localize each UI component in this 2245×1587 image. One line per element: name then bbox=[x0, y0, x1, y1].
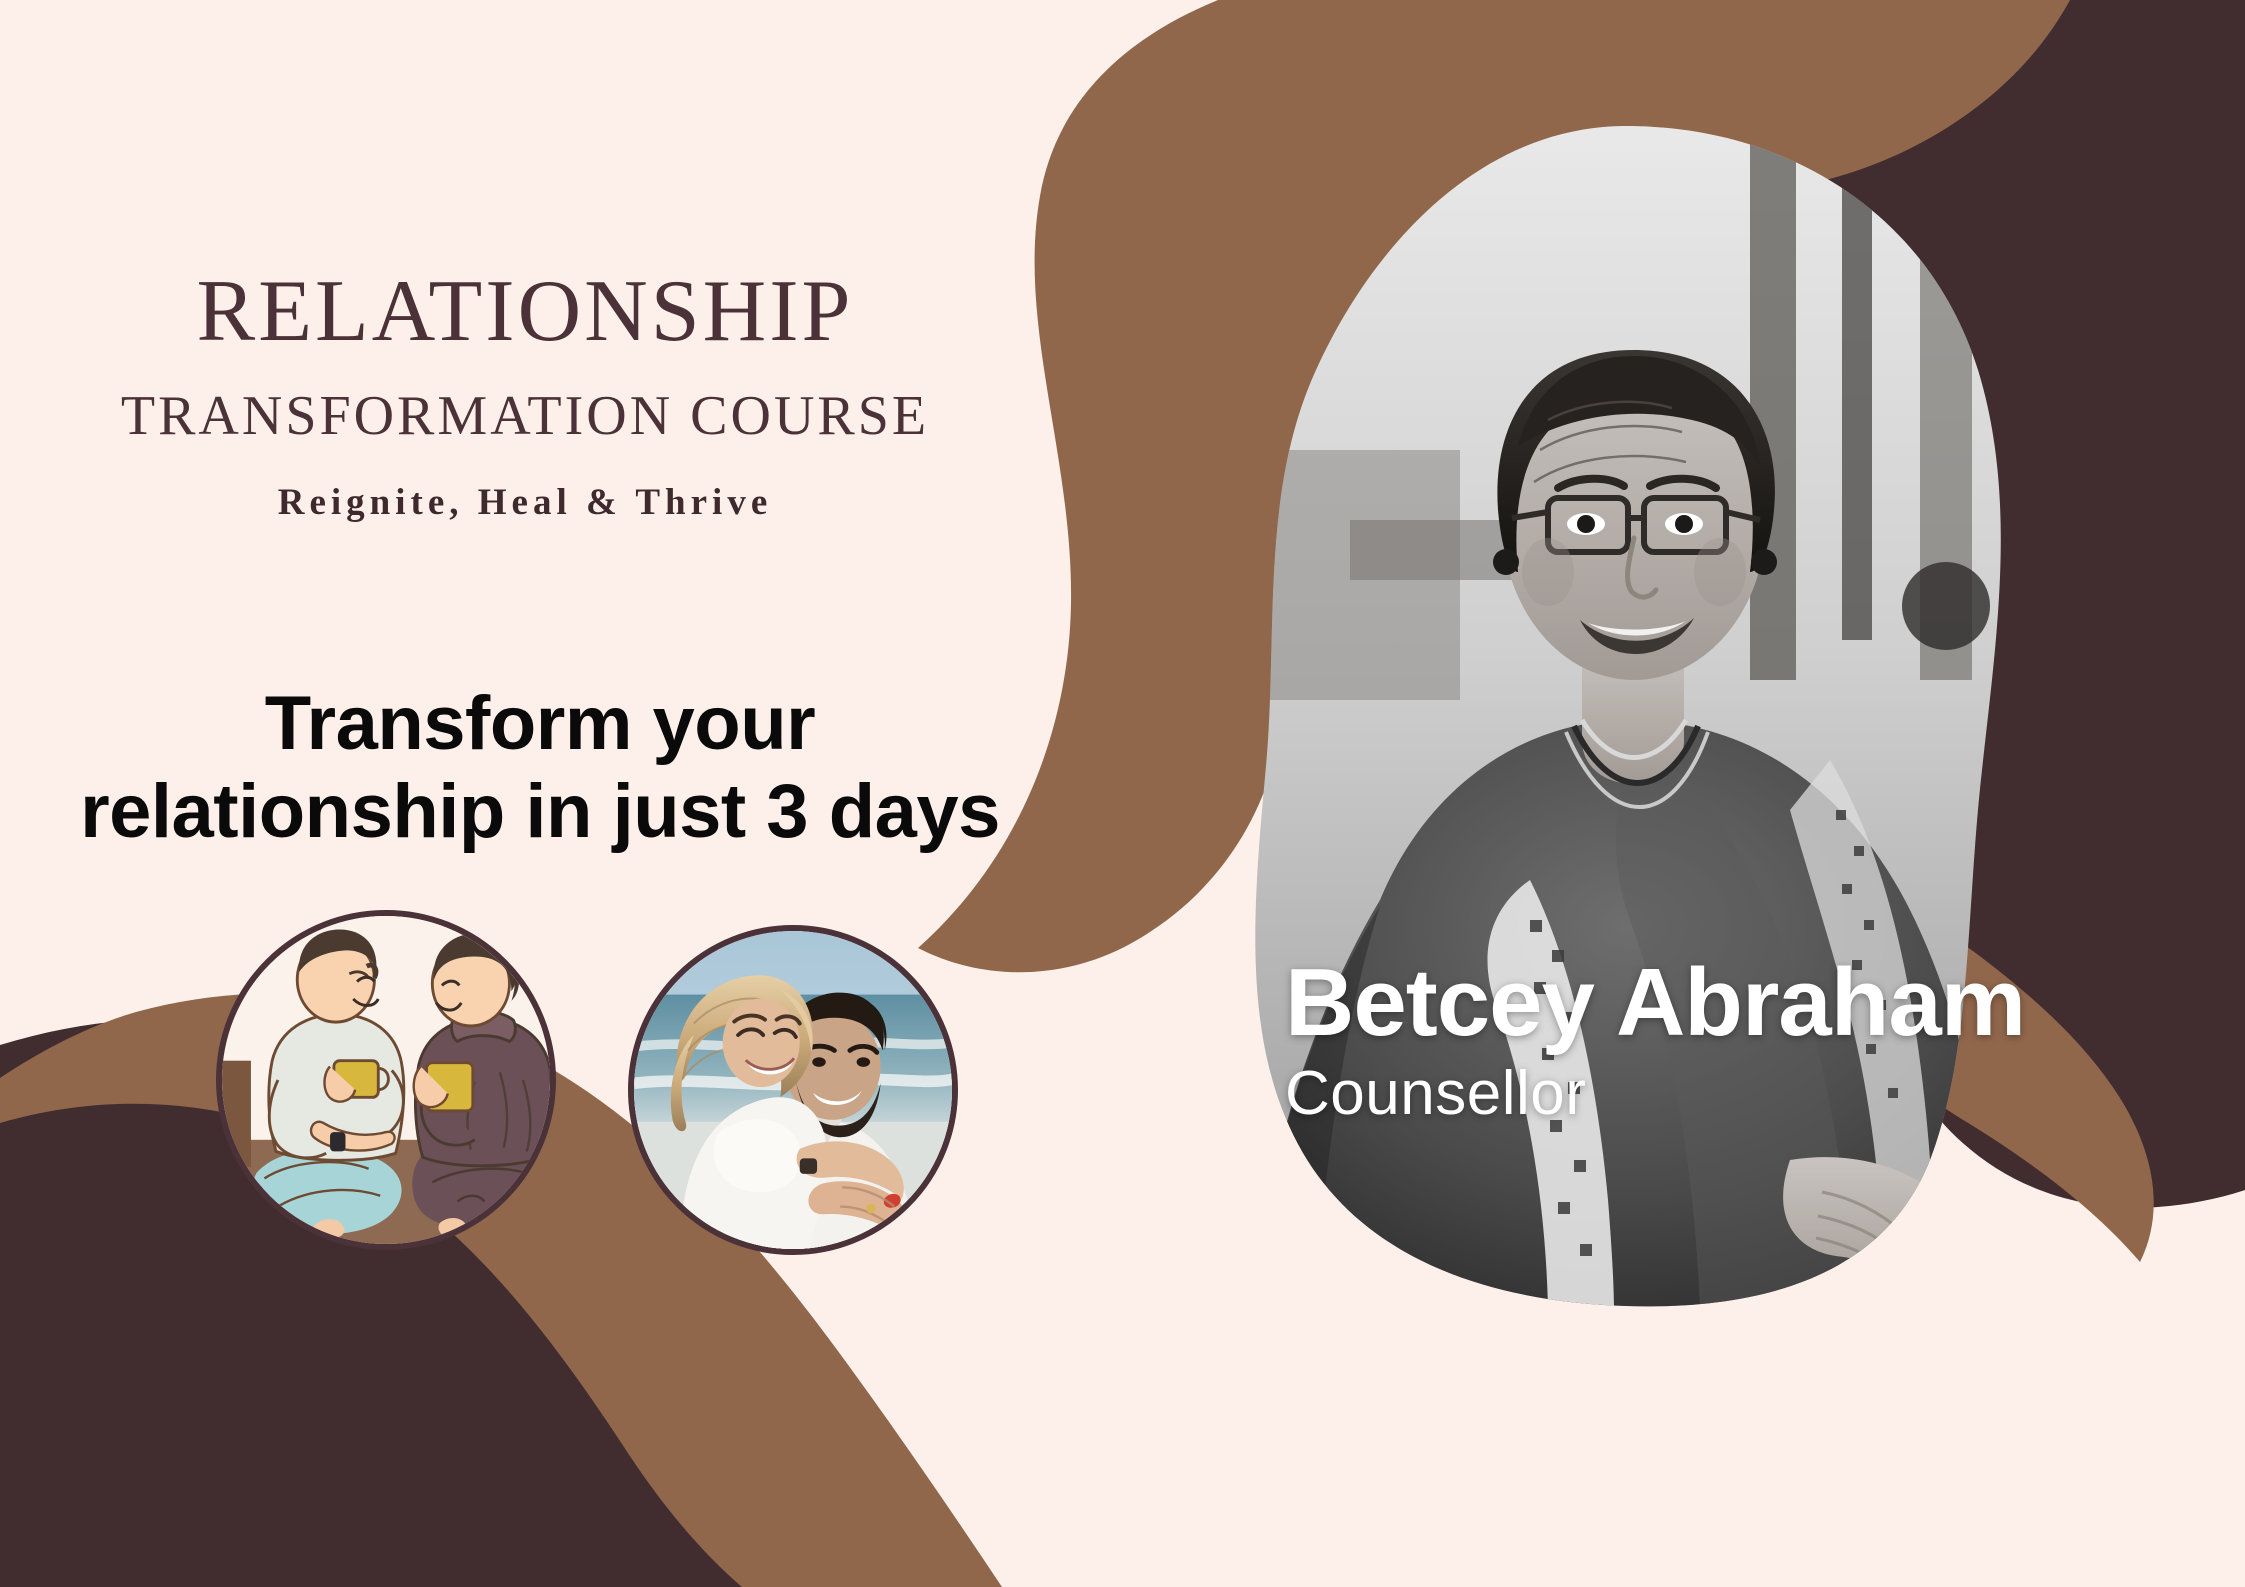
course-title-main: RELATIONSHIP bbox=[0, 268, 1050, 356]
headline-block: Transform your relationship in just 3 da… bbox=[0, 680, 1080, 856]
relationship-course-flyer: RELATIONSHIP TRANSFORMATION COURSE Reign… bbox=[0, 0, 2245, 1587]
presenter-portrait bbox=[1230, 120, 2020, 1310]
course-title-sub: TRANSFORMATION COURSE bbox=[0, 388, 1050, 444]
left-text-column: RELATIONSHIP TRANSFORMATION COURSE Reign… bbox=[0, 0, 1180, 1587]
photo-beach-couple bbox=[634, 931, 952, 1249]
portrait-scene bbox=[1230, 120, 2020, 1310]
headline-line-2: relationship in just 3 days bbox=[0, 768, 1080, 856]
photo-badges bbox=[216, 905, 1016, 1305]
course-tagline: Reignite, Heal & Thrive bbox=[0, 484, 1050, 521]
badge-beach-couple bbox=[628, 925, 958, 1255]
presenter-name-block: Betcey Abraham Counsellor bbox=[1285, 955, 2025, 1126]
presenter-name: Betcey Abraham bbox=[1285, 955, 2025, 1051]
headline-line-1: Transform your bbox=[0, 680, 1080, 768]
presenter-role: Counsellor bbox=[1285, 1061, 2025, 1126]
portrait-photo bbox=[1230, 120, 2020, 1310]
course-title-block: RELATIONSHIP TRANSFORMATION COURSE Reign… bbox=[0, 268, 1050, 521]
illustration-couple-with-mugs bbox=[222, 916, 550, 1244]
badge-illustrated-couple bbox=[216, 910, 556, 1250]
